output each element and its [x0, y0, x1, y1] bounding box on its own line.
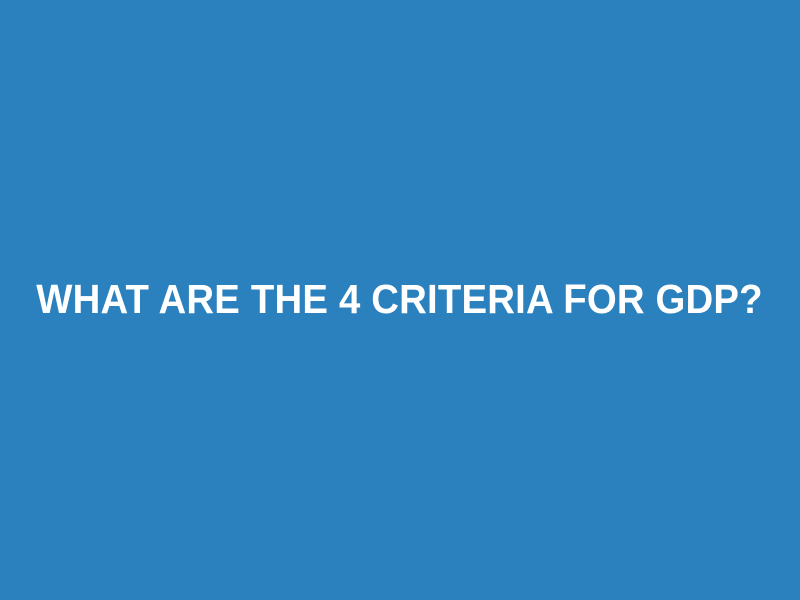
page-title: What are the 4 criteria for GDP? — [37, 277, 764, 323]
hero-banner: What are the 4 criteria for GDP? — [0, 0, 800, 600]
